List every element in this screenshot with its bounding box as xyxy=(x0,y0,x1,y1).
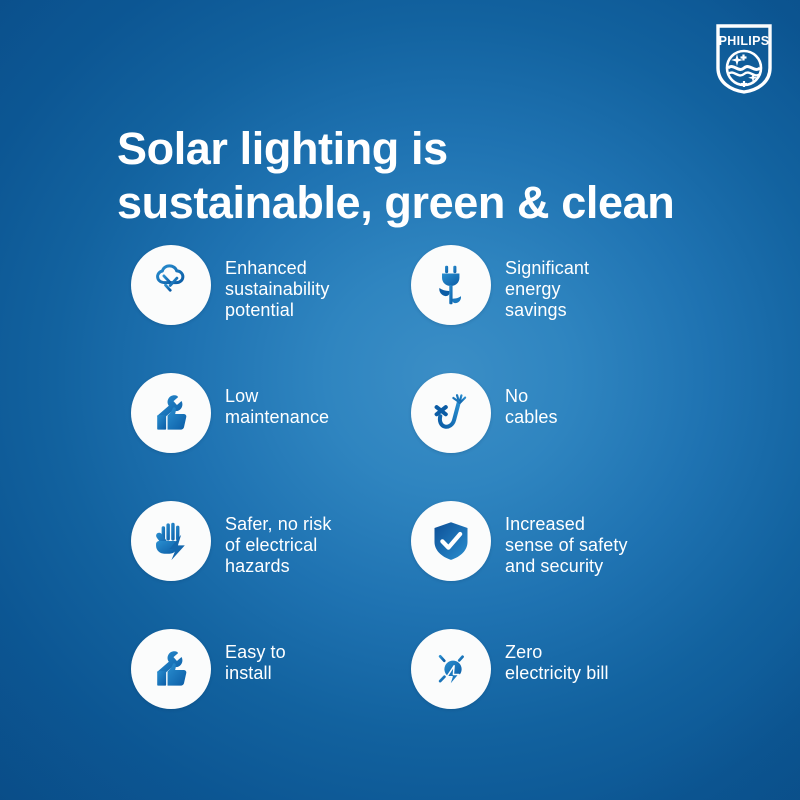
benefit-icon-badge xyxy=(411,501,491,581)
benefit-icon-badge xyxy=(411,245,491,325)
philips-shield-logo: PHILIPS xyxy=(716,24,772,94)
benefit-label: Easy to install xyxy=(225,629,286,684)
benefit-label-line: of electrical xyxy=(225,535,331,556)
benefit-label: Increased sense of safety and security xyxy=(505,501,628,577)
benefits-grid: Enhanced sustainability potential xyxy=(131,245,691,757)
headline-line-2: sustainable, green & clean xyxy=(117,176,737,230)
benefit-icon-badge xyxy=(131,501,211,581)
headline-line-1: Solar lighting is xyxy=(117,122,737,176)
benefit-label: Safer, no risk of electrical hazards xyxy=(225,501,331,577)
benefit-item: Significant energy savings xyxy=(411,245,691,373)
benefit-label: Zero electricity bill xyxy=(505,629,609,684)
page-title: Solar lighting is sustainable, green & c… xyxy=(117,122,737,230)
sun-lightning-icon xyxy=(429,647,473,691)
hand-lightning-icon xyxy=(148,518,194,564)
benefit-item: Enhanced sustainability potential xyxy=(131,245,411,373)
benefit-label-line: Significant xyxy=(505,258,589,279)
benefit-label-line: No xyxy=(505,386,558,407)
benefit-label-line: maintenance xyxy=(225,407,329,428)
benefit-item: No cables xyxy=(411,373,691,501)
benefit-icon-badge xyxy=(411,373,491,453)
benefit-label-line: Enhanced xyxy=(225,258,329,279)
benefit-icon-badge xyxy=(411,629,491,709)
benefit-icon-badge xyxy=(131,629,211,709)
benefit-item: Safer, no risk of electrical hazards xyxy=(131,501,411,629)
benefit-label-line: Increased xyxy=(505,514,628,535)
poster-canvas: PHILIPS Solar lighting is sustaina xyxy=(0,0,800,800)
wrench-thumbs-up-icon xyxy=(148,646,194,692)
eco-plug-icon xyxy=(429,263,473,307)
benefit-icon-badge xyxy=(131,245,211,325)
benefit-label-line: sense of safety xyxy=(505,535,628,556)
benefit-item: Zero electricity bill xyxy=(411,629,691,757)
benefit-item: Increased sense of safety and security xyxy=(411,501,691,629)
benefit-item: Easy to install xyxy=(131,629,411,757)
benefit-label-line: savings xyxy=(505,300,589,321)
wrench-thumbs-up-icon xyxy=(148,390,194,436)
benefit-label-line: sustainability xyxy=(225,279,329,300)
benefit-label: Enhanced sustainability potential xyxy=(225,245,329,321)
benefit-label-line: cables xyxy=(505,407,558,428)
benefit-label-line: Zero xyxy=(505,642,609,663)
benefit-item: Low maintenance xyxy=(131,373,411,501)
benefit-label-line: energy xyxy=(505,279,589,300)
benefit-icon-badge xyxy=(131,373,211,453)
benefit-label-line: Safer, no risk xyxy=(225,514,331,535)
tree-icon xyxy=(148,262,194,308)
benefit-label-line: electricity bill xyxy=(505,663,609,684)
benefit-label: Significant energy savings xyxy=(505,245,589,321)
benefit-label-line: hazards xyxy=(225,556,331,577)
philips-wordmark: PHILIPS xyxy=(719,34,770,48)
shield-check-icon xyxy=(429,519,473,563)
benefit-label-line: install xyxy=(225,663,286,684)
no-cable-icon xyxy=(429,391,473,435)
benefit-label: No cables xyxy=(505,373,558,428)
benefit-label: Low maintenance xyxy=(225,373,329,428)
benefit-label-line: Low xyxy=(225,386,329,407)
benefit-label-line: potential xyxy=(225,300,329,321)
benefit-label-line: and security xyxy=(505,556,628,577)
benefit-label-line: Easy to xyxy=(225,642,286,663)
